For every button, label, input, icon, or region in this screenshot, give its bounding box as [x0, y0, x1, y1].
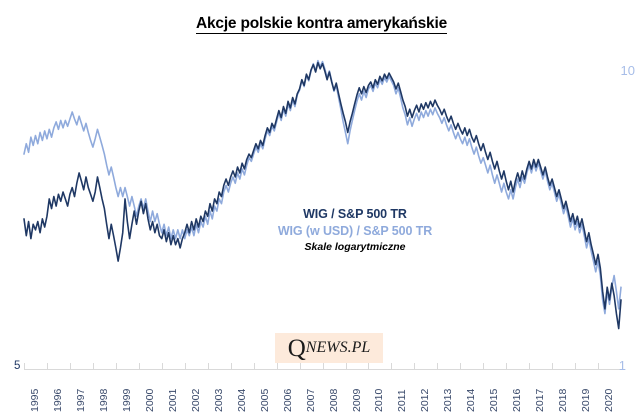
x-axis-tick: [575, 363, 576, 369]
x-axis-tick: [437, 363, 438, 369]
x-axis-tick: [552, 363, 553, 369]
x-axis-tick: [70, 363, 71, 369]
x-axis-tick: [460, 363, 461, 369]
x-axis-label-2001: 2001: [167, 371, 179, 412]
x-axis-tick: [598, 363, 599, 369]
x-axis-label-2012: 2012: [419, 371, 431, 412]
x-axis-label-2000: 2000: [144, 371, 156, 412]
x-axis-label-2011: 2011: [396, 371, 408, 412]
chart-legend: WIG / S&P 500 TR WIG (w USD) / S&P 500 T…: [240, 206, 470, 255]
x-axis-ticks: [24, 363, 621, 369]
x-axis-tick: [139, 363, 140, 369]
x-axis-tick: [254, 363, 255, 369]
x-axis-tick: [47, 363, 48, 369]
plot-area: [24, 40, 621, 370]
page-title-text: Akcje polskie kontra amerykańskie: [196, 15, 447, 34]
x-axis-tick: [93, 363, 94, 369]
x-axis-tick: [323, 363, 324, 369]
x-axis-tick: [391, 363, 392, 369]
x-axis-labels: 1995199619971998199920002001200220032004…: [24, 371, 621, 416]
x-axis-label-2019: 2019: [580, 371, 592, 412]
x-axis-tick: [208, 363, 209, 369]
x-axis-label-2004: 2004: [236, 371, 248, 412]
x-axis-label-2009: 2009: [351, 371, 363, 412]
y-axis-left-label: 5: [14, 360, 20, 372]
x-axis-label-2018: 2018: [557, 371, 569, 412]
x-axis-tick: [346, 363, 347, 369]
x-axis-tick: [24, 363, 25, 369]
watermark-text: NEWS.PL: [306, 340, 370, 356]
x-axis-label-2020: 2020: [603, 371, 615, 412]
x-axis-tick: [414, 363, 415, 369]
x-axis-label-2008: 2008: [328, 371, 340, 412]
y-axis-right-bottom-label: 1: [619, 358, 626, 373]
x-axis-label-2015: 2015: [488, 371, 500, 412]
x-axis-label-2002: 2002: [190, 371, 202, 412]
x-axis-label-2003: 2003: [213, 371, 225, 412]
x-axis-tick: [162, 363, 163, 369]
x-axis-label-1999: 1999: [121, 371, 133, 412]
y-axis-right-top-label: 10: [621, 63, 635, 78]
watermark-qnews: QNEWS.PL: [275, 333, 383, 363]
x-axis-label-2007: 2007: [305, 371, 317, 412]
chart-canvas: [24, 40, 621, 370]
chart-root: Akcje polskie kontra amerykańskie 199519…: [0, 0, 643, 416]
x-axis-label-2016: 2016: [511, 371, 523, 412]
legend-note-log-scale: Skale logarytmiczne: [240, 241, 470, 255]
x-axis-label-2005: 2005: [259, 371, 271, 412]
x-axis-tick: [506, 363, 507, 369]
x-axis-label-1998: 1998: [98, 371, 110, 412]
x-axis-tick: [185, 363, 186, 369]
x-axis-tick: [116, 363, 117, 369]
x-axis-tick: [368, 363, 369, 369]
legend-item-wig-usd: WIG (w USD) / S&P 500 TR: [240, 223, 470, 240]
x-axis-label-1996: 1996: [52, 371, 64, 412]
watermark-initial: Q: [288, 336, 306, 361]
x-axis-label-2010: 2010: [373, 371, 385, 412]
x-axis-tick: [277, 363, 278, 369]
x-axis-label-2014: 2014: [465, 371, 477, 412]
x-axis-label-1995: 1995: [29, 371, 41, 412]
page-title: Akcje polskie kontra amerykańskie: [0, 15, 643, 33]
x-axis-tick: [529, 363, 530, 369]
x-axis-line: [24, 369, 621, 370]
x-axis-label-2017: 2017: [534, 371, 546, 412]
x-axis-tick: [231, 363, 232, 369]
x-axis-label-1997: 1997: [75, 371, 87, 412]
legend-item-wig-pln: WIG / S&P 500 TR: [240, 206, 470, 223]
series-line-wig-pln: [24, 63, 621, 329]
x-axis-label-2013: 2013: [442, 371, 454, 412]
x-axis-tick: [483, 363, 484, 369]
x-axis-label-2006: 2006: [282, 371, 294, 412]
x-axis-tick: [300, 363, 301, 369]
series-line-wig-usd: [24, 61, 621, 314]
